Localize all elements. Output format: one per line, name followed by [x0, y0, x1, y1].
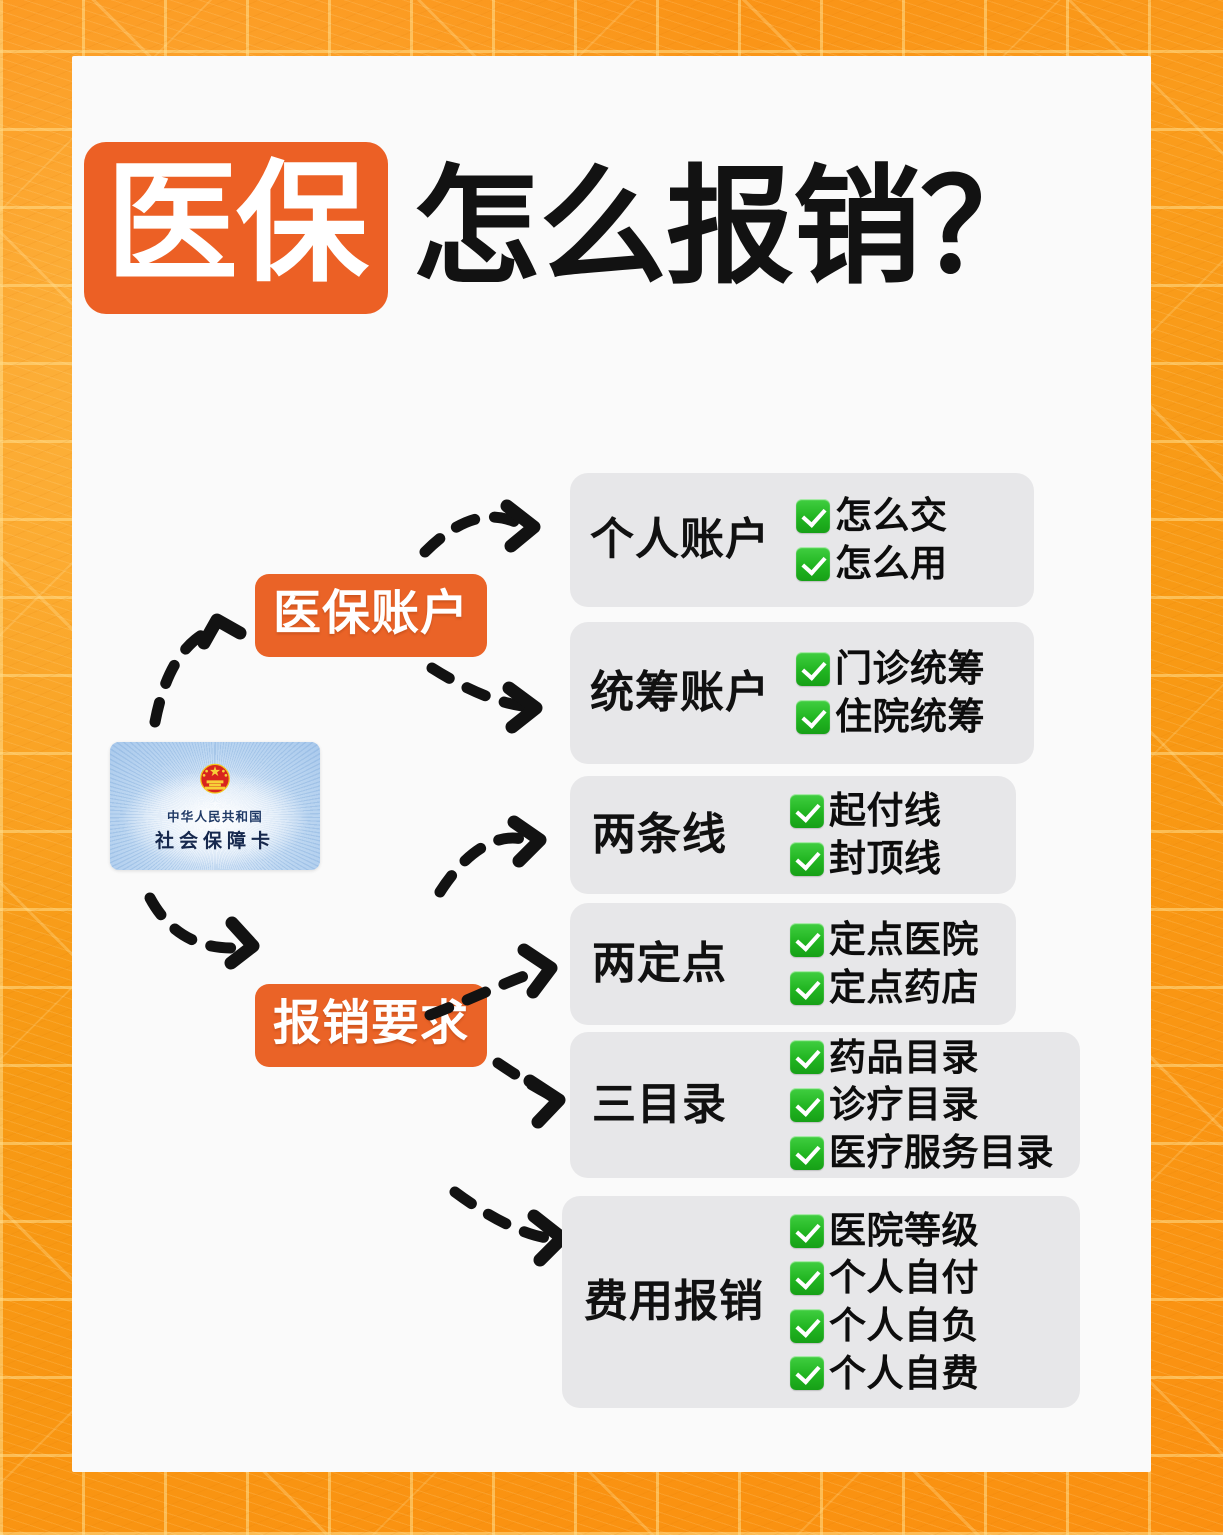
list-item-label: 医院等级 — [829, 1209, 979, 1253]
list-item: 定点药店 — [790, 966, 979, 1010]
check-icon — [790, 1214, 824, 1248]
list-item-label: 封顶线 — [829, 837, 942, 881]
list-item: 个人自负 — [790, 1304, 979, 1348]
card-country-label: 中华人民共和国 — [110, 806, 320, 825]
list-item: 医院等级 — [790, 1209, 979, 1253]
check-icon — [790, 1088, 824, 1122]
check-icon — [790, 1356, 824, 1390]
list-item: 门诊统筹 — [796, 647, 985, 691]
info-card-two-lines[interactable]: 两条线 起付线 封顶线 — [570, 776, 1016, 894]
group-badge-requirements[interactable]: 报销要求 — [255, 984, 487, 1067]
list-item-label: 个人自费 — [829, 1352, 979, 1396]
check-icon — [790, 842, 824, 876]
check-icon — [796, 499, 830, 533]
check-icon — [790, 1309, 824, 1343]
list-item-label: 怎么用 — [835, 542, 948, 586]
info-card-title: 个人账户 — [590, 517, 796, 563]
info-card-items: 起付线 封顶线 — [790, 789, 942, 880]
list-item-label: 药品目录 — [829, 1036, 979, 1080]
info-card-items: 医院等级 个人自付 个人自负 个人自费 — [790, 1209, 979, 1396]
info-card-three-catalogs[interactable]: 三目录 药品目录 诊疗目录 医疗服务目录 — [570, 1032, 1080, 1178]
info-card-items: 怎么交 怎么用 — [796, 494, 948, 585]
info-card-items: 药品目录 诊疗目录 医疗服务目录 — [790, 1036, 1054, 1175]
info-card-title: 统筹账户 — [590, 670, 796, 716]
list-item: 定点医院 — [790, 918, 979, 962]
info-card-title: 三目录 — [592, 1082, 790, 1128]
info-card-title: 两定点 — [592, 941, 790, 987]
list-item-label: 起付线 — [829, 789, 942, 833]
info-card-two-designated[interactable]: 两定点 定点医院 定点药店 — [570, 903, 1016, 1025]
list-item: 怎么交 — [796, 494, 948, 538]
list-item-label: 诊疗目录 — [829, 1083, 979, 1127]
list-item-label: 个人自付 — [829, 1256, 979, 1300]
list-item-label: 定点医院 — [829, 918, 979, 962]
info-card-title: 两条线 — [592, 812, 790, 858]
check-icon — [796, 547, 830, 581]
check-icon — [790, 794, 824, 828]
list-item: 怎么用 — [796, 542, 948, 586]
list-item-label: 住院统筹 — [835, 695, 985, 739]
info-card-personal-account[interactable]: 个人账户 怎么交 怎么用 — [570, 473, 1034, 607]
list-item-label: 怎么交 — [835, 494, 948, 538]
list-item: 药品目录 — [790, 1036, 1054, 1080]
check-icon — [796, 700, 830, 734]
title-badge: 医保 — [84, 142, 388, 314]
list-item: 住院统筹 — [796, 695, 985, 739]
check-icon — [790, 923, 824, 957]
title-question: 怎么报销？ — [412, 164, 1047, 292]
info-card-pooled-account[interactable]: 统筹账户 门诊统筹 住院统筹 — [570, 622, 1034, 764]
info-card-expense-reimbursement[interactable]: 费用报销 医院等级 个人自付 个人自负 个人自费 — [562, 1196, 1080, 1408]
list-item-label: 门诊统筹 — [835, 647, 985, 691]
list-item: 医疗服务目录 — [790, 1131, 1054, 1175]
list-item: 个人自费 — [790, 1352, 979, 1396]
info-card-items: 定点医院 定点药店 — [790, 918, 979, 1009]
list-item-label: 个人自负 — [829, 1304, 979, 1348]
info-card-items: 门诊统筹 住院统筹 — [796, 647, 985, 738]
page-title: 医保 怎么报销？ — [84, 142, 1047, 314]
list-item-label: 定点药店 — [829, 966, 979, 1010]
info-card-title: 费用报销 — [584, 1279, 790, 1325]
list-item: 封顶线 — [790, 837, 942, 881]
list-item: 个人自付 — [790, 1256, 979, 1300]
check-icon — [790, 971, 824, 1005]
social-security-card: 中华人民共和国 社会保障卡 — [110, 742, 320, 870]
national-emblem-icon — [194, 756, 236, 798]
list-item: 起付线 — [790, 789, 942, 833]
list-item-label: 医疗服务目录 — [829, 1131, 1054, 1175]
check-icon — [790, 1261, 824, 1295]
group-badge-accounts[interactable]: 医保账户 — [255, 574, 487, 657]
check-icon — [796, 652, 830, 686]
card-name-label: 社会保障卡 — [110, 826, 320, 853]
check-icon — [790, 1040, 824, 1074]
list-item: 诊疗目录 — [790, 1083, 1054, 1127]
check-icon — [790, 1136, 824, 1170]
